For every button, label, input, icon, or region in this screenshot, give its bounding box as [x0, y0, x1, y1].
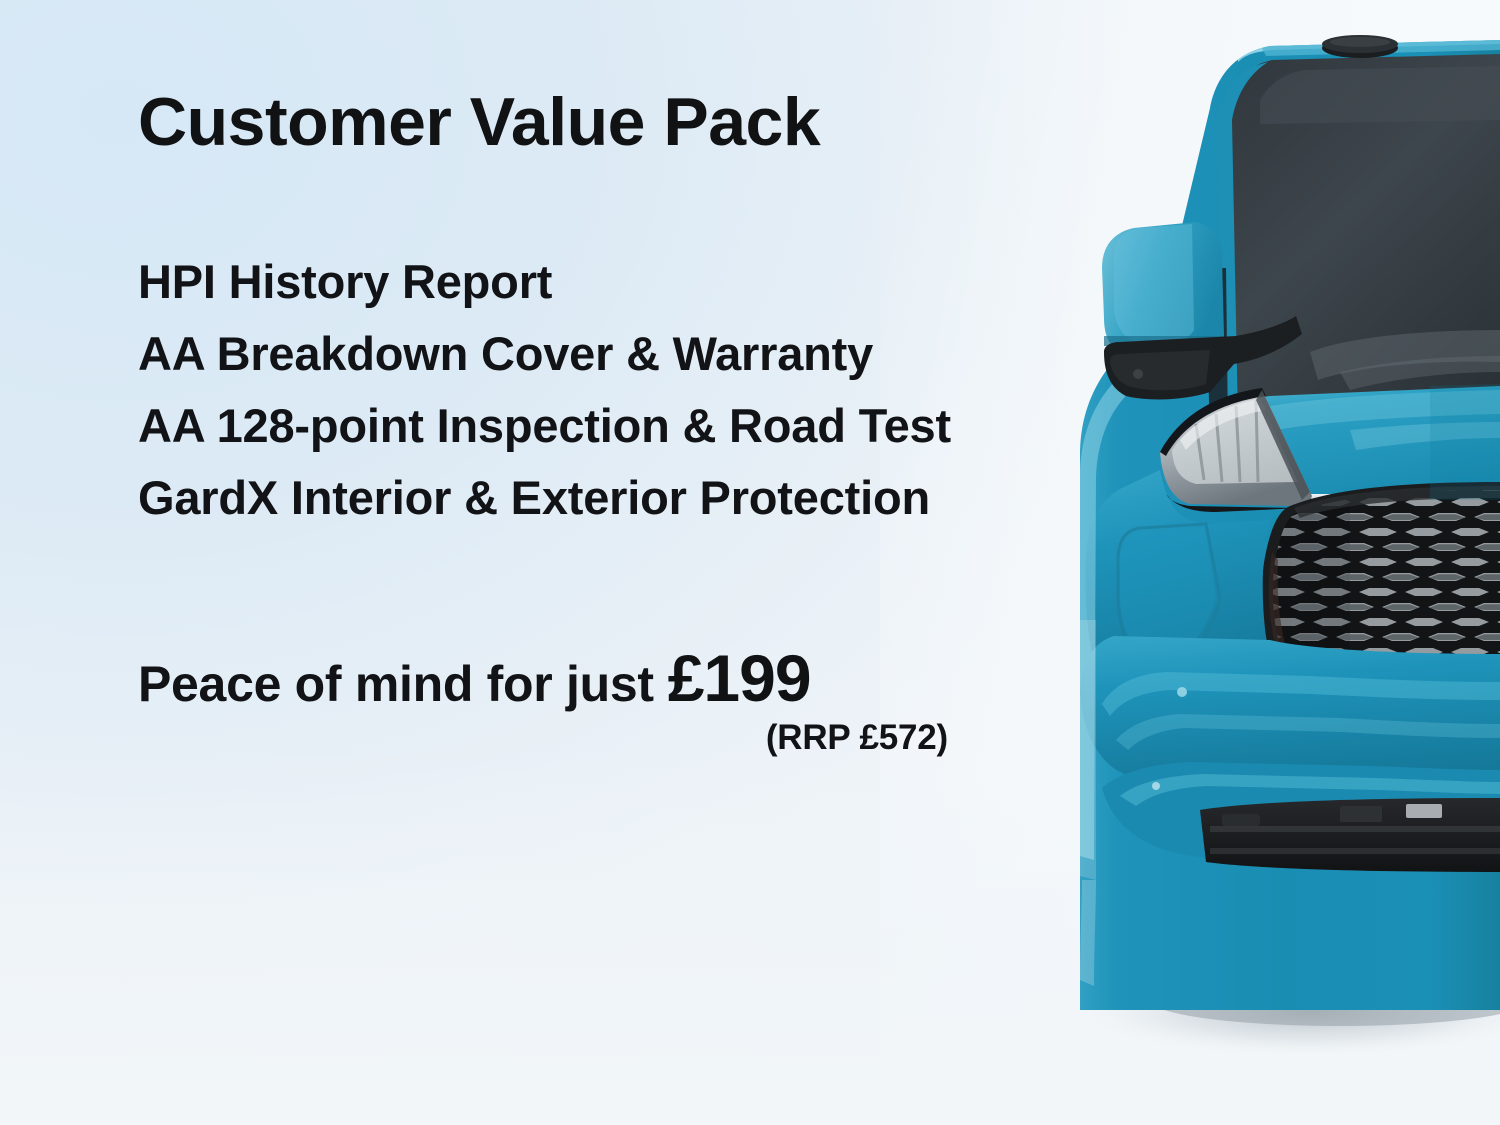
price-amount: £199: [668, 645, 811, 711]
blue-van-front-illustration: [1010, 0, 1500, 1125]
promo-banner: Customer Value Pack HPI History Report A…: [0, 0, 1500, 1125]
list-item: GardX Interior & Exterior Protection: [138, 474, 1018, 521]
parking-sensor: [1177, 687, 1187, 697]
parking-sensor: [1152, 782, 1160, 790]
page-title: Customer Value Pack: [138, 88, 820, 156]
roof-antenna: [1322, 35, 1398, 58]
list-item: AA Breakdown Cover & Warranty: [138, 330, 1018, 377]
list-item: HPI History Report: [138, 258, 1018, 305]
price-rrp: (RRP £572): [138, 720, 950, 755]
fog-lamp: [1222, 814, 1260, 826]
price-block: Peace of mind for just £199 (RRP £572): [138, 645, 950, 755]
feature-list: HPI History Report AA Breakdown Cover & …: [138, 258, 1018, 546]
text-column: Customer Value Pack HPI History Report A…: [138, 0, 1018, 1125]
price-lead-text: Peace of mind for just: [138, 659, 654, 709]
list-item: AA 128-point Inspection & Road Test: [138, 402, 1018, 449]
price-line: Peace of mind for just £199: [138, 645, 950, 711]
vehicle-image: [1010, 0, 1500, 1125]
lower-air-intake: [1200, 798, 1500, 872]
